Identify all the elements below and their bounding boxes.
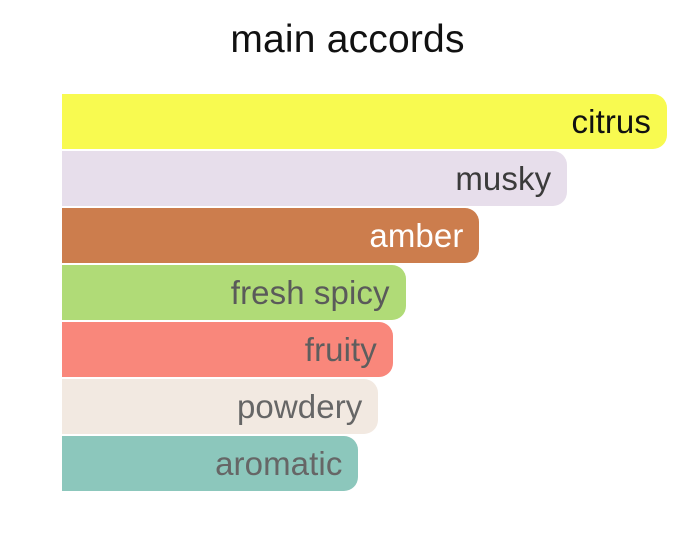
accord-label: fruity xyxy=(305,331,393,369)
main-accords-chart: main accords citrusmuskyamberfresh spicy… xyxy=(0,0,695,534)
accord-bar-fresh-spicy[interactable]: fresh spicy xyxy=(62,265,406,320)
page-title: main accords xyxy=(0,16,695,64)
accord-label: amber xyxy=(369,217,479,255)
accord-bar-list: citrusmuskyamberfresh spicyfruitypowdery… xyxy=(62,94,682,493)
accord-bar-fruity[interactable]: fruity xyxy=(62,322,393,377)
accord-bar-powdery[interactable]: powdery xyxy=(62,379,378,434)
accord-bar-amber[interactable]: amber xyxy=(62,208,479,263)
accord-label: powdery xyxy=(237,388,378,426)
accord-bar-citrus[interactable]: citrus xyxy=(62,94,667,149)
accord-label: aromatic xyxy=(215,445,358,483)
accord-label: musky xyxy=(455,160,567,198)
accord-label: citrus xyxy=(572,103,667,141)
accord-label: fresh spicy xyxy=(231,274,406,312)
accord-bar-aromatic[interactable]: aromatic xyxy=(62,436,358,491)
accord-bar-musky[interactable]: musky xyxy=(62,151,567,206)
